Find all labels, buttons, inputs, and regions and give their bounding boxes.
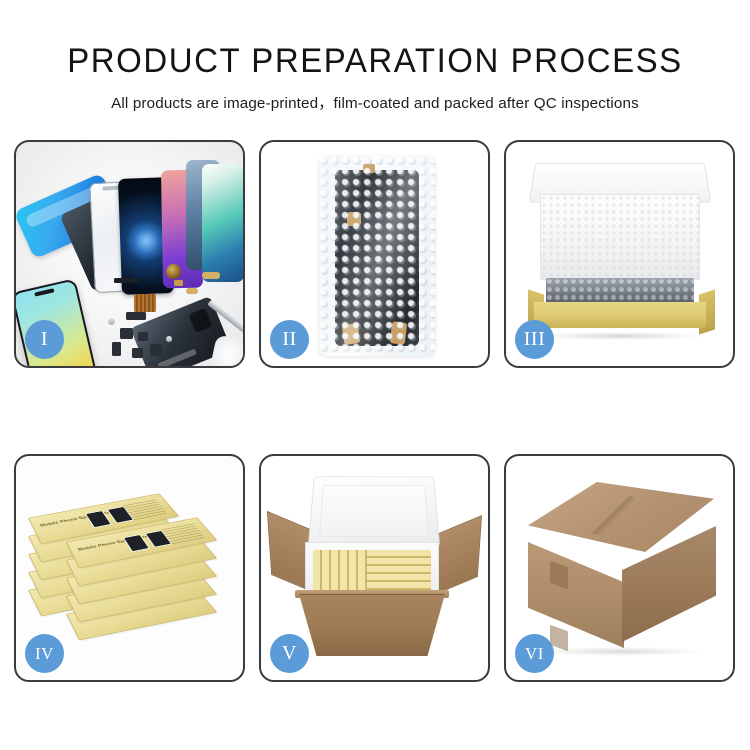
part-bracket-e [132,348,143,358]
part-speaker-mesh [114,278,140,283]
step-badge-5: V [270,634,309,673]
bubble-wrap-bag [319,156,435,356]
phone-teal [202,164,243,282]
foam-box-lid [308,476,440,547]
part-gold-contact [174,280,183,286]
box-stack: Mobile Phone Spare Parts Mobile Phone Sp… [24,478,236,660]
process-step-6: VI [504,454,735,682]
carton-body [299,594,445,656]
part-copper-shield [134,294,156,312]
page-subtitle: All products are image-printed，film-coat… [0,78,750,113]
step-badge-4: IV [25,634,64,673]
page-title: PRODUCT PREPARATION PROCESS [11,0,739,78]
part-flex-cable-a [202,272,220,279]
part-camera-module [166,264,181,279]
part-screw-a [108,318,115,325]
step-badge-2: II [270,320,309,359]
process-step-grid: I II [14,140,736,682]
yellow-boxes-inside [313,550,431,590]
part-bracket-c [138,332,148,341]
process-step-3: III [504,140,735,368]
process-step-5: V [259,454,490,682]
step-badge-6: VI [515,634,554,673]
box-front-wall [534,302,706,328]
process-step-1: I [14,140,245,368]
part-bracket-d [112,342,121,356]
foam-sheet [540,194,700,280]
bubble-wrapped-items [546,278,694,304]
step-badge-3: III [515,320,554,359]
part-bracket-a [126,312,146,320]
part-bracket-b [120,328,133,339]
part-flex-cable-b [186,288,198,294]
drop-shadow [540,332,702,340]
part-bracket-f [150,344,162,356]
process-step-4: Mobile Phone Spare Parts Mobile Phone Sp… [14,454,245,682]
step-badge-1: I [25,320,64,359]
plastic-sheen [319,156,435,356]
part-screw-b [166,336,172,342]
product-preparation-infographic: PRODUCT PREPARATION PROCESS All products… [0,0,750,750]
drop-shadow [540,647,704,656]
header: PRODUCT PREPARATION PROCESS All products… [0,0,750,113]
process-step-2: II [259,140,490,368]
carton-left-face [528,542,624,648]
